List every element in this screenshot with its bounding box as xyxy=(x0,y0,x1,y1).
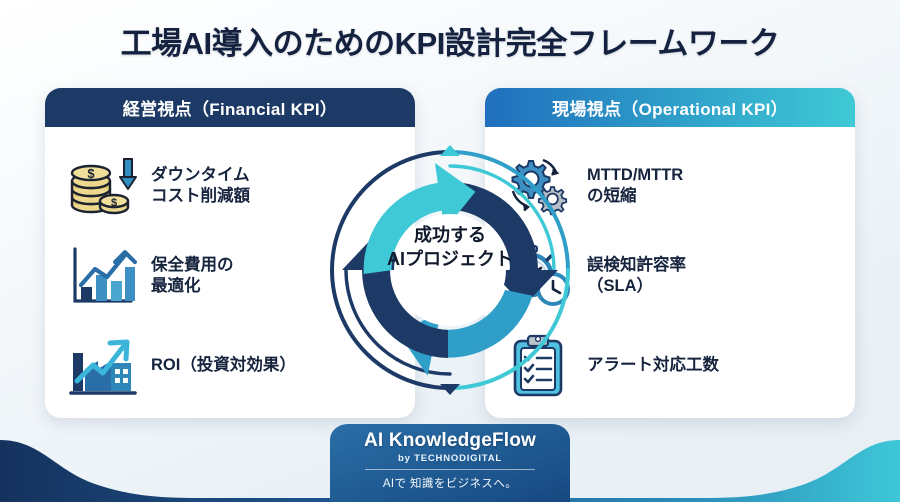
footer-band: AI KnowledgeFlow by TECHNODIGITAL AIで 知識… xyxy=(0,422,900,502)
list-item-label: アラート対応工数 xyxy=(587,355,719,376)
list-item-label: MTTD/MTTR の短縮 xyxy=(587,165,683,207)
success-cycle-wheel: 成功する AIプロジェクト xyxy=(300,120,600,420)
factory-growth-icon xyxy=(67,333,139,399)
svg-text:$: $ xyxy=(111,197,117,209)
list-item-label: ROI（投資対効果） xyxy=(151,355,296,376)
brand-name: AI KnowledgeFlow xyxy=(350,430,550,452)
brand-divider xyxy=(365,469,535,470)
coins-down-arrow-icon: $ $ xyxy=(67,153,139,219)
list-item-label: 保全費用の 最適化 xyxy=(151,255,234,297)
brand-byline: by TECHNODIGITAL xyxy=(350,453,550,464)
infographic-stage: 工場AI導入のためのKPI設計完全フレームワーク 経営視点（Financial … xyxy=(0,0,900,502)
list-item-label: 誤検知許容率 （SLA） xyxy=(587,255,686,297)
svg-text:$: $ xyxy=(87,166,95,181)
bar-chart-growth-icon xyxy=(67,243,139,309)
brand-tagline: AIで 知識をビジネスへ。 xyxy=(350,475,550,491)
list-item-label: ダウンタイム コスト削減額 xyxy=(151,165,250,207)
footer-brand: AI KnowledgeFlow by TECHNODIGITAL AIで 知識… xyxy=(350,430,550,491)
